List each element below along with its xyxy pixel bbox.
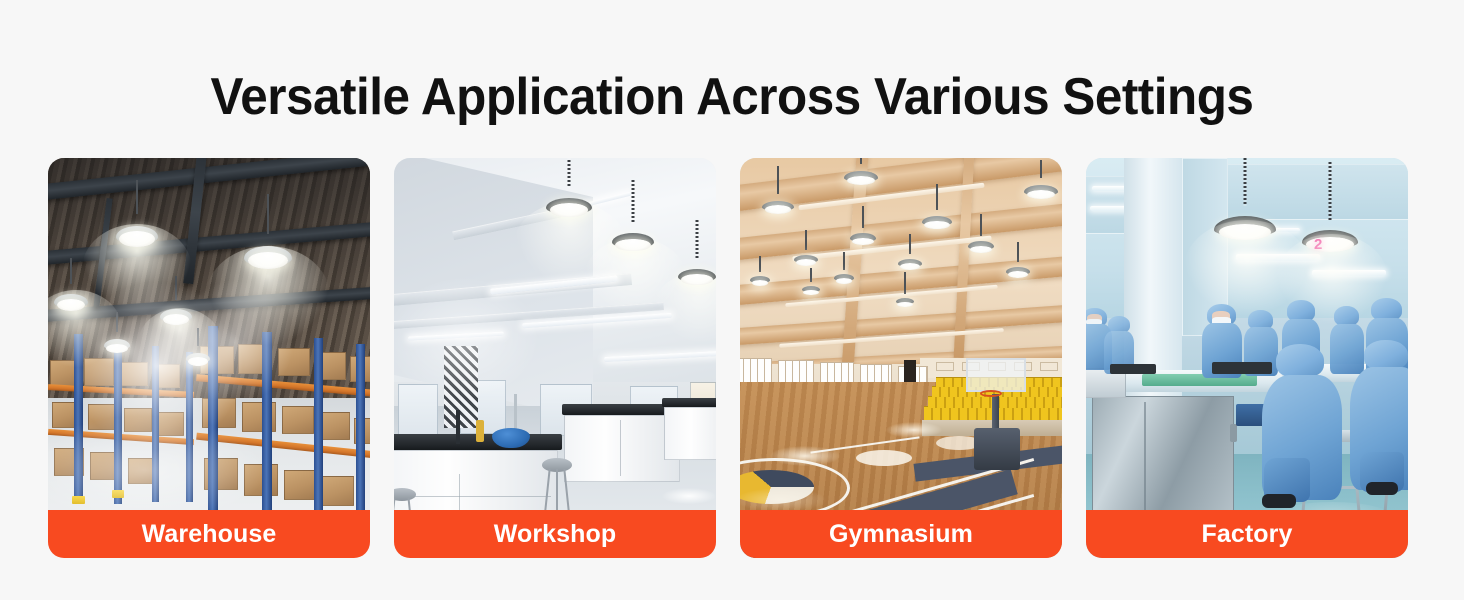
application-card-warehouse[interactable]: Warehouse <box>48 158 370 558</box>
factory-wall-sign: 2 <box>1314 236 1322 253</box>
application-settings-section: Versatile Application Across Various Set… <box>0 0 1464 600</box>
page-title: Versatile Application Across Various Set… <box>37 66 1428 128</box>
application-card-factory[interactable]: 2 <box>1086 158 1408 558</box>
factory-scene-image: 2 <box>1086 158 1408 558</box>
card-label-warehouse: Warehouse <box>48 510 370 558</box>
card-label-factory: Factory <box>1086 510 1408 558</box>
warehouse-scene-image <box>48 158 370 558</box>
card-label-workshop: Workshop <box>394 510 716 558</box>
workshop-scene-image <box>394 158 716 558</box>
application-card-grid: Warehouse <box>48 158 1416 558</box>
gymnasium-scene-image <box>740 158 1062 558</box>
application-card-gymnasium[interactable]: Gymnasium <box>740 158 1062 558</box>
application-card-workshop[interactable]: Workshop <box>394 158 716 558</box>
card-label-gymnasium: Gymnasium <box>740 510 1062 558</box>
